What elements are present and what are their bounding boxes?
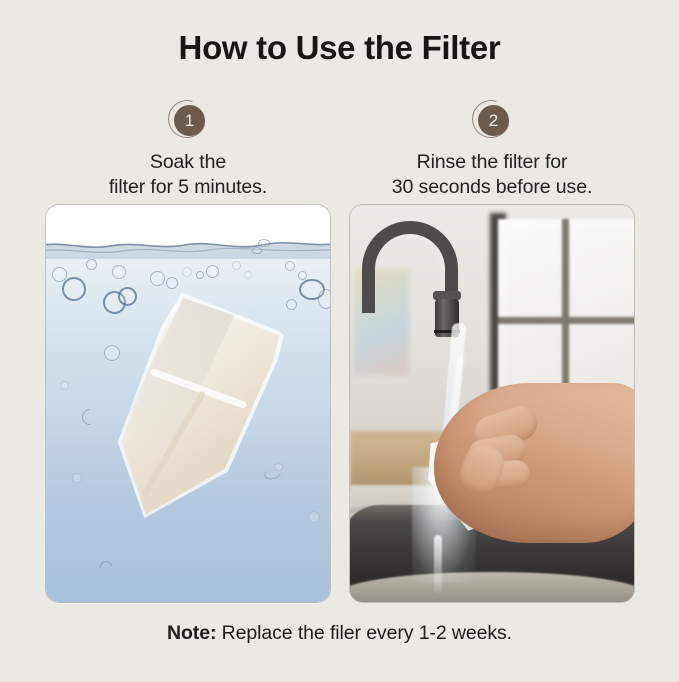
bubble (252, 247, 262, 254)
note-label: Note: (167, 622, 216, 644)
bubble (244, 271, 252, 279)
bubble (112, 265, 126, 279)
bubble (166, 277, 178, 289)
step-1-badge: 1 (168, 100, 208, 140)
step-2-number: 2 (478, 105, 509, 136)
bubble (298, 271, 307, 280)
bubble (182, 267, 192, 277)
bubble (232, 261, 241, 270)
water-drip (434, 535, 442, 593)
step-2-badge: 2 (472, 100, 512, 140)
step-2-image-card (350, 205, 634, 602)
bubble (285, 261, 295, 271)
infographic-page: How to Use the Filter 1 Soak the filter … (0, 0, 679, 682)
kitchen-rinse-photo (350, 205, 634, 602)
bubble (86, 259, 97, 270)
steps-image-row (46, 205, 634, 602)
step-1-image-card (46, 205, 330, 602)
step-1-caption: Soak the filter for 5 minutes. (109, 150, 267, 200)
window-mullion (498, 317, 634, 324)
step-1-header: 1 Soak the filter for 5 minutes. (46, 100, 330, 200)
water-surface-line (46, 233, 330, 259)
bubble (258, 239, 270, 247)
step-2-header: 2 Rinse the filter for 30 seconds before… (350, 100, 634, 200)
bubble (52, 267, 67, 282)
bubble (104, 345, 120, 361)
step-2-caption: Rinse the filter for 30 seconds before u… (392, 150, 593, 200)
water-soak-illustration (46, 205, 330, 602)
bubble (286, 299, 297, 310)
bubble (118, 287, 137, 306)
steps-header-row: 1 Soak the filter for 5 minutes. 2 Rinse… (46, 100, 634, 200)
bubble (150, 271, 165, 286)
bubble (308, 511, 320, 523)
bubble (196, 271, 204, 279)
sink-front-edge (350, 572, 634, 602)
bubble (62, 277, 86, 301)
bubble (318, 289, 330, 309)
page-title: How to Use the Filter (0, 28, 679, 68)
note-text: Replace the filer every 1-2 weeks. (216, 622, 512, 644)
bubble (72, 473, 82, 483)
footer-note: Note: Replace the filer every 1-2 weeks. (0, 620, 679, 646)
bubble (206, 265, 219, 278)
step-1-number: 1 (174, 105, 205, 136)
kitchen-faucet (356, 217, 466, 337)
bubble (60, 381, 69, 390)
